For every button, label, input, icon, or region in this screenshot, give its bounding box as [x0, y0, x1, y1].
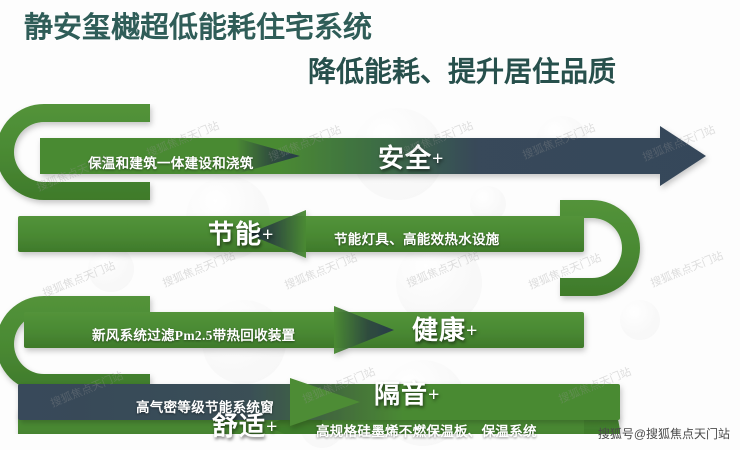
row-1-key-label: 安全+: [378, 138, 444, 175]
row-4-key-label: 舒适+: [212, 406, 278, 443]
row-4-key-text: 舒适: [212, 412, 266, 441]
row-3-description: 新风系统过滤Pm2.5带热回收装置: [92, 324, 295, 344]
row-1-description: 保温和建筑一体建设和浇筑: [88, 152, 254, 172]
row-5-key-text: 隔音: [374, 380, 428, 409]
row-4-description: 高规格硅墨烯不燃保温板、保温系统: [316, 420, 537, 440]
row-5-key-label: 隔音+: [374, 374, 440, 411]
row-2-key-text: 节能: [208, 220, 262, 249]
row-1-key-plus: +: [432, 148, 444, 170]
slide-canvas: 静安玺樾超低能耗住宅系统 降低能耗、提升居住品质: [0, 0, 740, 450]
page-title: 静安玺樾超低能耗住宅系统: [24, 4, 372, 46]
source-watermark: 搜狐号@搜狐焦点天门站: [598, 425, 730, 442]
row-2-key-plus: +: [262, 224, 274, 246]
row-2-key-label: 节能+: [208, 214, 274, 251]
row-3-key-text: 健康: [412, 316, 466, 345]
process-flow-diagram: 保温和建筑一体建设和浇筑 节能灯具、高能效热水设施 新风系统过滤Pm2.5带热回…: [0, 104, 740, 434]
row-4-key-plus: +: [266, 416, 278, 438]
row-3-key-plus: +: [466, 320, 478, 342]
row-5-key-plus: +: [428, 384, 440, 406]
page-subtitle: 降低能耗、提升居住品质: [308, 50, 616, 90]
row-3-key-label: 健康+: [412, 310, 478, 347]
row-2-description: 节能灯具、高能效热水设施: [334, 228, 500, 248]
row-1-key-text: 安全: [378, 144, 432, 173]
